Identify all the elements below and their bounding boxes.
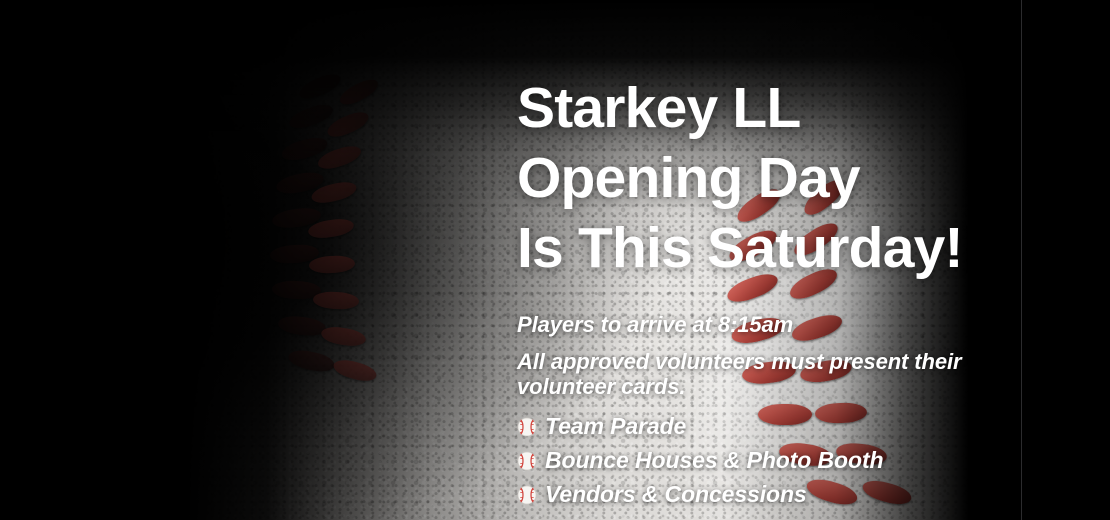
right-black-panel bbox=[1022, 0, 1110, 520]
announcement-slide: Starkey LL Opening Day Is This Saturday!… bbox=[0, 0, 1110, 520]
slide-content: Starkey LL Opening Day Is This Saturday!… bbox=[517, 0, 977, 520]
list-item: Vendors & Concessions bbox=[517, 481, 979, 508]
page-title: Starkey LL Opening Day Is This Saturday! bbox=[517, 73, 977, 283]
list-item-label: Team Parade bbox=[545, 413, 686, 440]
headline-line-2: Opening Day bbox=[517, 143, 977, 213]
baseball-icon bbox=[517, 485, 537, 505]
arrival-time-text: Players to arrive at 8:15am bbox=[517, 312, 979, 337]
list-item-label: Bounce Houses & Photo Booth bbox=[545, 447, 883, 474]
list-item: Bounce Houses & Photo Booth bbox=[517, 447, 979, 474]
list-item-label: Vendors & Concessions bbox=[545, 481, 807, 508]
headline-line-3: Is This Saturday! bbox=[517, 213, 977, 283]
volunteer-note-text: All approved volunteers must present the… bbox=[517, 349, 979, 399]
vertical-divider bbox=[1021, 0, 1022, 520]
baseball-icon bbox=[517, 451, 537, 471]
headline-line-1: Starkey LL bbox=[517, 73, 977, 143]
activities-list: Team Parade Bounce Houses & Photo Booth bbox=[517, 413, 979, 508]
list-item: Team Parade bbox=[517, 413, 979, 440]
body-text-block: Players to arrive at 8:15am All approved… bbox=[517, 312, 979, 515]
baseball-icon bbox=[517, 417, 537, 437]
